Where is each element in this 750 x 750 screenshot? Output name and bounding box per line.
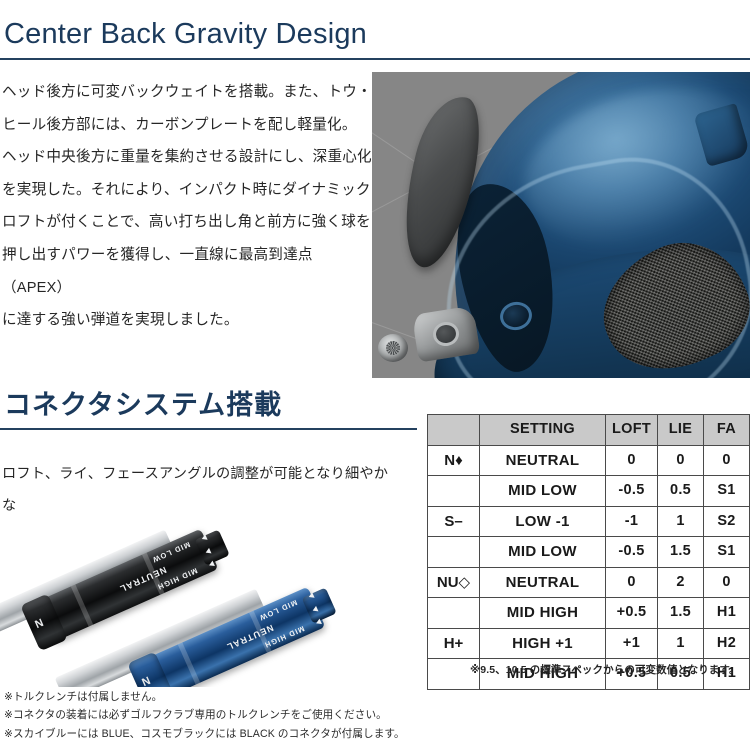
page-footnotes: ※トルクレンチは付属しません。 ※コネクタの装着には必ずゴルフクラブ専用のトルク…: [4, 688, 504, 743]
cell-setting: NEUTRAL: [480, 567, 606, 598]
table-row: MID HIGH+0.51.5H1: [428, 598, 750, 629]
cell-setting: LOW -1: [480, 506, 606, 537]
col-header-loft: LOFT: [606, 415, 658, 446]
spec-table-note: ※9.5、10.5 の標準スペックからの可変数値となります。: [470, 662, 740, 677]
cell-code: H+: [428, 628, 480, 659]
table-row: N♦NEUTRAL000: [428, 445, 750, 476]
cell-loft: -0.5: [606, 476, 658, 507]
cell-code: NU◇: [428, 567, 480, 598]
col-header-setting: SETTING: [480, 415, 606, 446]
table-row: S–LOW -1-11S2: [428, 506, 750, 537]
connector-photo: N MID HIGH NEUTRAL MID LOW N MID HIGH NE…: [0, 512, 400, 687]
cell-loft: -0.5: [606, 537, 658, 568]
cell-fa: 0: [704, 567, 750, 598]
cell-code: N♦: [428, 445, 480, 476]
table-row: MID LOW-0.50.5S1: [428, 476, 750, 507]
cell-code: S–: [428, 506, 480, 537]
table-row: MID LOW-0.51.5S1: [428, 537, 750, 568]
cell-loft: +1: [606, 628, 658, 659]
col-header-code: [428, 415, 480, 446]
section-heading-gravity: Center Back Gravity Design: [0, 20, 750, 60]
cell-lie: 1.5: [658, 598, 704, 629]
cell-loft: -1: [606, 506, 658, 537]
cell-lie: 1: [658, 628, 704, 659]
cell-code: [428, 598, 480, 629]
table-header-row: SETTING LOFT LIE FA: [428, 415, 750, 446]
cell-loft: +0.5: [606, 598, 658, 629]
cell-setting: MID HIGH: [480, 598, 606, 629]
weight-screw: [378, 334, 408, 362]
cell-fa: S1: [704, 537, 750, 568]
page-title: Center Back Gravity Design: [0, 20, 750, 49]
cell-setting: NEUTRAL: [480, 445, 606, 476]
cell-loft: 0: [606, 445, 658, 476]
cell-loft: 0: [606, 567, 658, 598]
cell-fa: S2: [704, 506, 750, 537]
cell-lie: 0.5: [658, 476, 704, 507]
cell-fa: S1: [704, 476, 750, 507]
cell-lie: 2: [658, 567, 704, 598]
cell-lie: 1: [658, 506, 704, 537]
cell-fa: H2: [704, 628, 750, 659]
cell-fa: H1: [704, 598, 750, 629]
connector-collar: [20, 593, 68, 651]
cell-fa: 0: [704, 445, 750, 476]
cell-lie: 1.5: [658, 537, 704, 568]
cell-setting: MID LOW: [480, 476, 606, 507]
heading-rule: [0, 428, 417, 430]
cell-lie: 0: [658, 445, 704, 476]
mark-mid-low: MID LOW: [257, 598, 298, 623]
product-spec-page: Center Back Gravity Design ヘッド後方に可変バックウェ…: [0, 0, 750, 750]
cell-code: [428, 476, 480, 507]
driver-head-render-image: [372, 72, 750, 378]
setting-spec-table: SETTING LOFT LIE FA N♦NEUTRAL000MID LOW-…: [427, 414, 750, 690]
back-weight: [412, 305, 481, 362]
heading-rule: [0, 58, 750, 60]
col-header-lie: LIE: [658, 415, 704, 446]
table-row: NU◇NEUTRAL020: [428, 567, 750, 598]
col-header-fa: FA: [704, 415, 750, 446]
cell-code: [428, 537, 480, 568]
cell-setting: HIGH +1: [480, 628, 606, 659]
table-row: H+HIGH +1+11H2: [428, 628, 750, 659]
cell-setting: MID LOW: [480, 537, 606, 568]
gravity-description: ヘッド後方に可変バックウェイトを搭載。また、トウ・ ヒール後方部には、カーボンプ…: [2, 76, 374, 337]
